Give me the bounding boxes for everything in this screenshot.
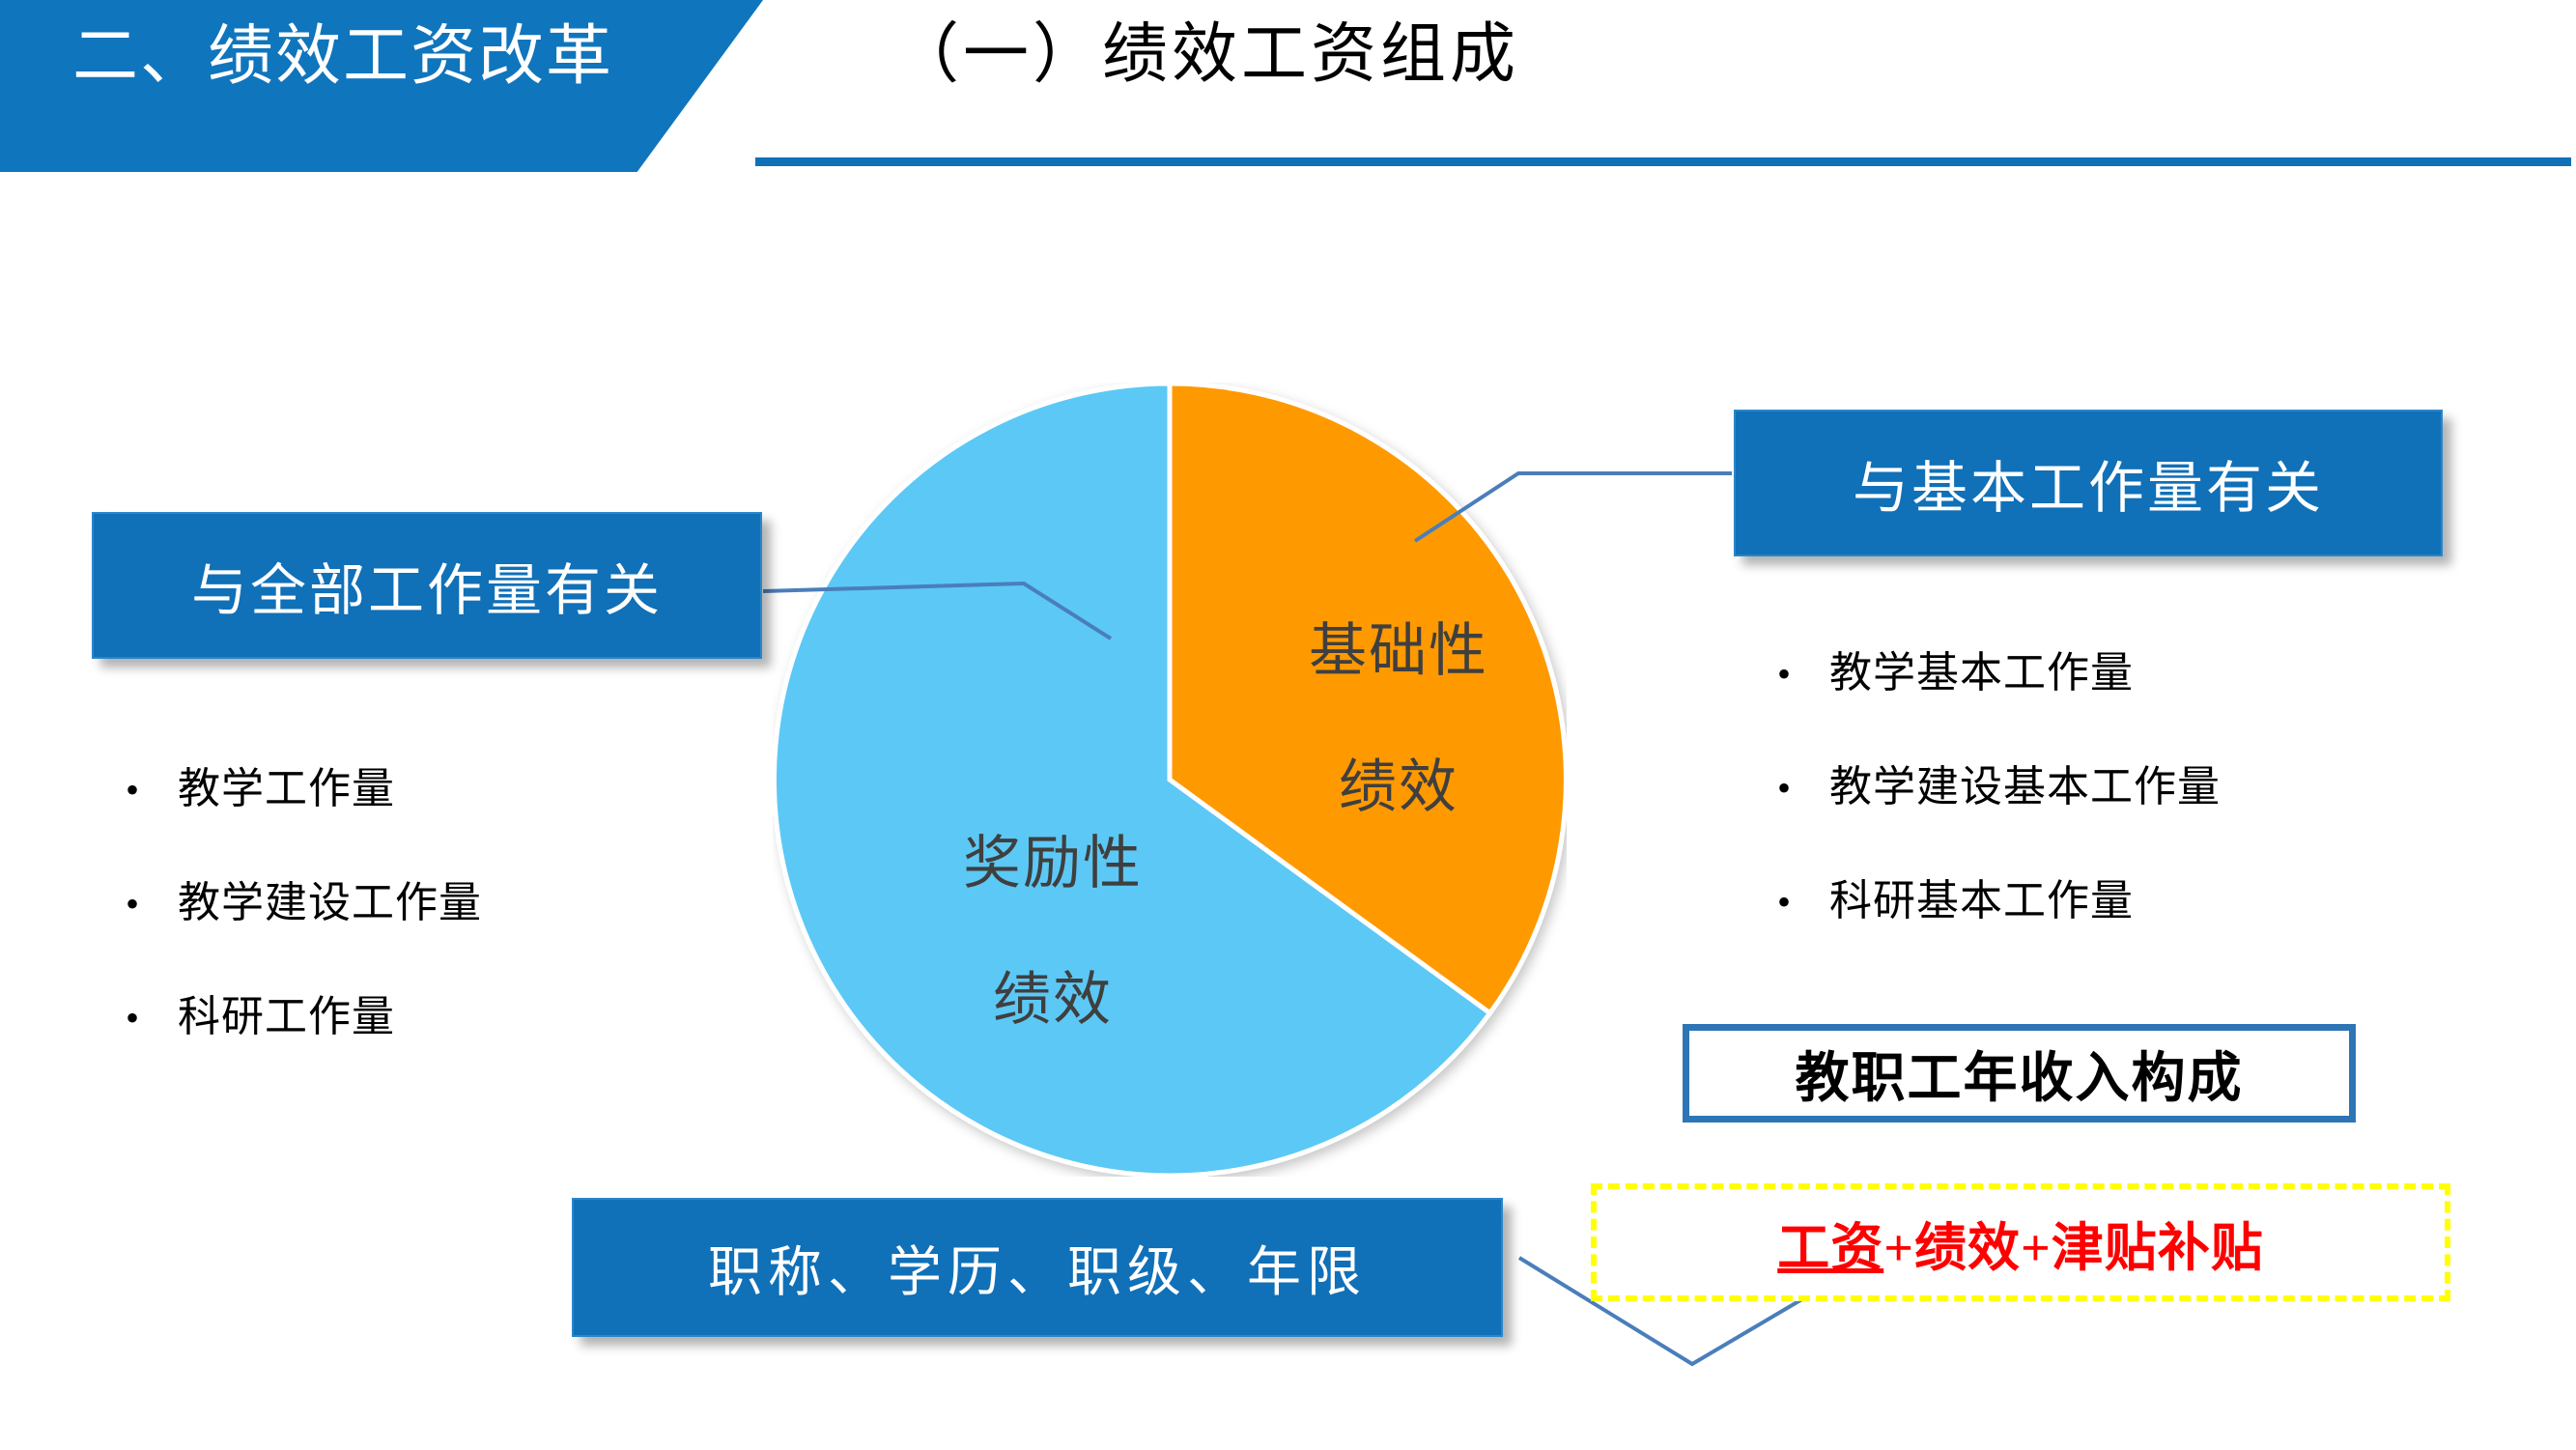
list-item-label: 教学基本工作量	[1829, 638, 2134, 699]
income-formula-label: 工资+绩效+津贴补贴	[1777, 1205, 2264, 1281]
list-item: • 教学工作量	[126, 753, 482, 815]
list-item: • 教学建设工作量	[126, 867, 482, 929]
bullet-dot-icon: •	[126, 885, 178, 924]
page-title: （一）绩效工资组成	[893, 21, 1519, 87]
list-item: • 教学基本工作量	[1777, 638, 2221, 699]
list-item-label: 科研工作量	[178, 981, 395, 1043]
slide-canvas: 二、绩效工资改革 （一）绩效工资组成 基础性 绩效 奖励性 绩效	[0, 0, 2576, 1450]
income-composition-title-label: 教职工年收入构成	[1796, 1035, 2244, 1113]
list-item-label: 科研基本工作量	[1829, 866, 2134, 927]
bullet-dot-icon: •	[126, 771, 178, 810]
income-formula-rest-part: +绩效+津贴补贴	[1883, 1219, 2264, 1277]
income-formula-underlined-part: 工资	[1777, 1219, 1883, 1277]
pie-chart: 基础性 绩效 奖励性 绩效	[773, 383, 1567, 1177]
callout-box-bottom[interactable]: 职称、学历、职级、年限	[572, 1198, 1503, 1337]
bullet-dot-icon: •	[1777, 883, 1829, 922]
header-underline-rule	[755, 157, 2571, 166]
list-item: • 教学建设基本工作量	[1777, 752, 2221, 813]
bullet-dot-icon: •	[126, 999, 178, 1038]
income-formula-box[interactable]: 工资+绩效+津贴补贴	[1591, 1183, 2450, 1301]
bullet-dot-icon: •	[1777, 769, 1829, 808]
income-composition-title-box[interactable]: 教职工年收入构成	[1683, 1024, 2356, 1123]
list-item-label: 教学建设工作量	[178, 867, 482, 929]
bullet-list-right: • 教学基本工作量 • 教学建设基本工作量 • 科研基本工作量	[1777, 638, 2221, 980]
list-item-label: 教学工作量	[178, 753, 395, 815]
list-item: • 科研工作量	[126, 981, 482, 1043]
callout-box-left[interactable]: 与全部工作量有关	[92, 512, 762, 659]
list-item-label: 教学建设基本工作量	[1829, 752, 2221, 813]
callout-box-right[interactable]: 与基本工作量有关	[1734, 410, 2443, 556]
bullet-dot-icon: •	[1777, 655, 1829, 694]
list-item: • 科研基本工作量	[1777, 866, 2221, 927]
bullet-list-left: • 教学工作量 • 教学建设工作量 • 科研工作量	[126, 753, 482, 1095]
header-section-number-label: 二、绩效工资改革	[72, 23, 613, 89]
